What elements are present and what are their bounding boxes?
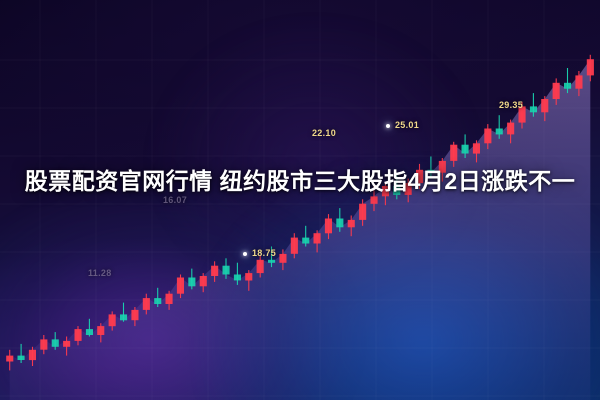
headline-text: 股票配资官网行情 纽约股市三大股指4月2日涨跌不一 xyxy=(0,165,600,198)
image-canvas: 29.3525.0122.1018.7516.0711.28 股票配资官网行情 … xyxy=(0,0,600,400)
marker-18-75 xyxy=(243,252,247,256)
candlestick-chart xyxy=(0,0,600,400)
chart-area-fill xyxy=(10,59,591,400)
marker-25-01 xyxy=(386,124,390,128)
